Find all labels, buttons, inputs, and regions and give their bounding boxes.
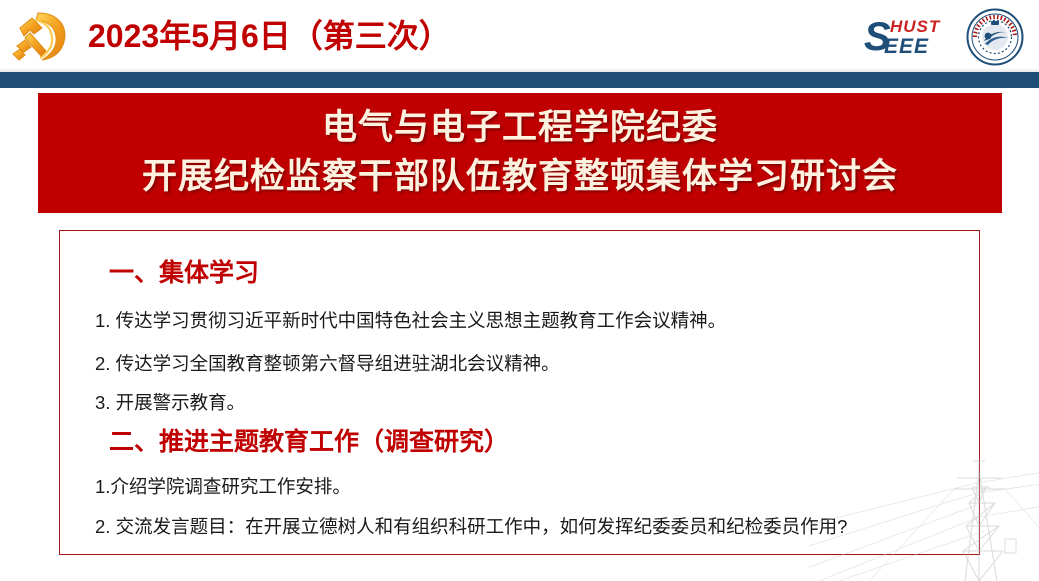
- party-emblem-icon: [8, 6, 78, 66]
- hust-seee-seal-icon: [966, 8, 1024, 66]
- section-1-item-2: 2. 传达学习全国教育整顿第六督导组进驻湖北会议精神。: [95, 351, 560, 377]
- section-2-item-2: 2. 交流发言题目：在开展立德树人和有组织科研工作中，如何发挥纪委委员和纪检委员…: [95, 514, 847, 540]
- banner-title-line-2: 开展纪检监察干部队伍教育整顿集体学习研讨会: [142, 152, 898, 202]
- svg-text:HUST: HUST: [890, 17, 941, 36]
- slide-header: 2023年5月6日（第三次） S HUST EEE: [0, 0, 1039, 72]
- section-heading-2: 二、推进主题教育工作（调查研究）: [109, 427, 509, 457]
- svg-text:EEE: EEE: [884, 35, 929, 58]
- agenda-content-box: 一、集体学习 1. 传达学习贯彻习近平新时代中国特色社会主义思想主题教育工作会议…: [59, 230, 980, 555]
- title-banner: 电气与电子工程学院纪委 开展纪检监察干部队伍教育整顿集体学习研讨会: [38, 93, 1002, 213]
- banner-title-line-1: 电气与电子工程学院纪委: [322, 104, 718, 152]
- section-heading-1: 一、集体学习: [109, 258, 259, 288]
- section-2-item-1: 1.介绍学院调查研究工作安排。: [95, 474, 351, 500]
- seee-logo: S HUST EEE: [864, 12, 969, 60]
- section-1-item-3: 3. 开展警示教育。: [95, 390, 245, 416]
- section-1-item-1: 1. 传达学习贯彻习近平新时代中国特色社会主义思想主题教育工作会议精神。: [95, 308, 726, 334]
- presentation-slide: 2023年5月6日（第三次） S HUST EEE 电: [0, 0, 1039, 581]
- header-divider-bar: [0, 72, 1039, 88]
- header-date-title: 2023年5月6日（第三次）: [88, 14, 451, 58]
